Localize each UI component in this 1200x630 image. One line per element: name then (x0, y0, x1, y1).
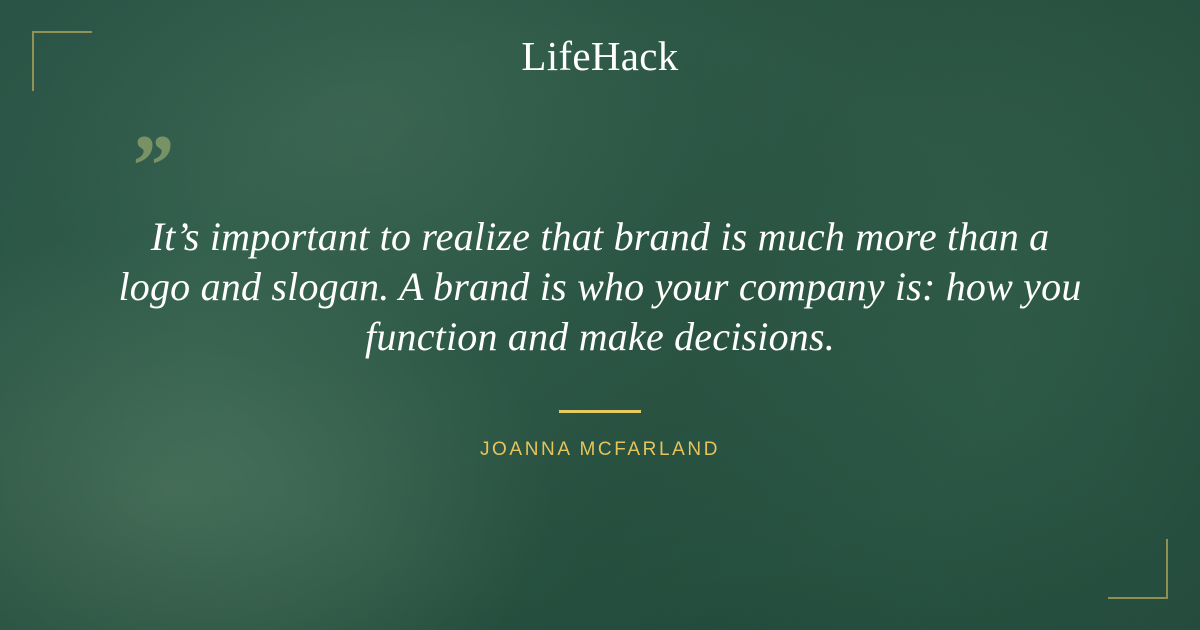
quote-author: JOANNA MCFARLAND (0, 439, 1200, 461)
gold-divider (559, 410, 641, 413)
quote-line: function and make decisions. (60, 312, 1140, 362)
quotation-mark-icon: ” (128, 123, 172, 211)
quote-line: It’s important to realize that brand is … (60, 212, 1140, 262)
quote-line: logo and slogan. A brand is who your com… (60, 262, 1140, 312)
brand-logo: LifeHack (0, 36, 1200, 77)
quote-text: It’s important to realize that brand is … (60, 212, 1140, 362)
quote-card: LifeHack ” It’s important to realize tha… (0, 0, 1200, 630)
